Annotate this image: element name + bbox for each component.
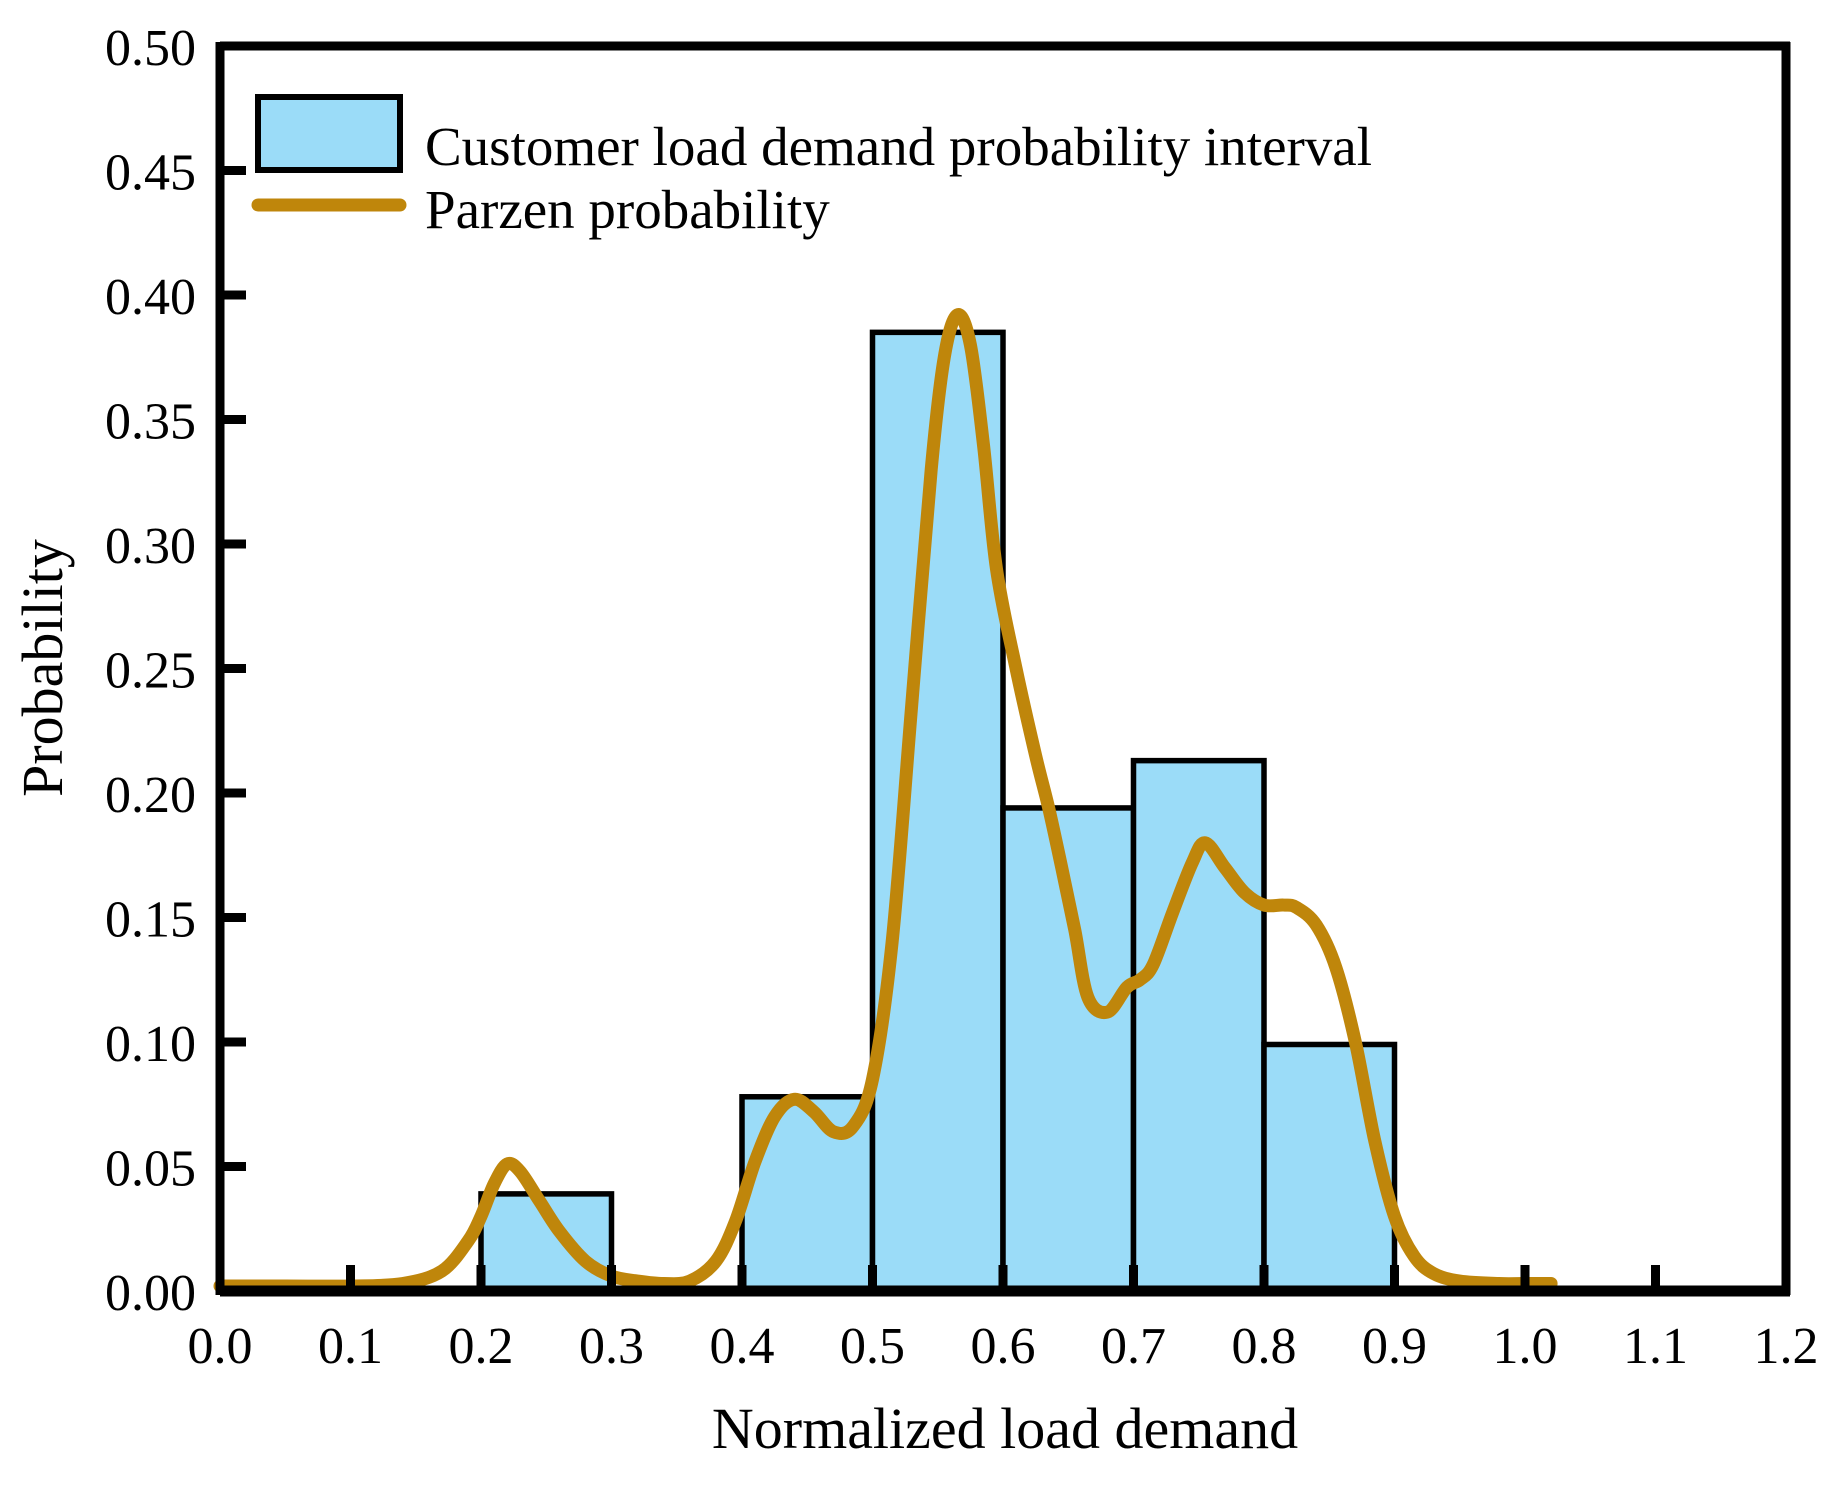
y-tick-label: 0.45: [105, 145, 196, 202]
x-tick-label: 0.2: [449, 1318, 514, 1375]
histogram-parzen-chart: 0.00.10.20.30.40.50.60.70.80.91.01.11.20…: [0, 0, 1845, 1493]
legend-swatch-bar: [258, 97, 400, 170]
y-tick-label: 0.15: [105, 892, 196, 949]
chart-figure: 0.00.10.20.30.40.50.60.70.80.91.01.11.20…: [0, 0, 1845, 1493]
y-tick-label: 0.00: [105, 1265, 196, 1322]
y-tick-label: 0.25: [105, 643, 196, 700]
x-tick-label: 1.2: [1754, 1318, 1819, 1375]
y-tick-label: 0.30: [105, 518, 196, 575]
x-tick-label: 1.0: [1493, 1318, 1558, 1375]
legend-label-bar: Customer load demand probability interva…: [425, 116, 1372, 177]
x-tick-label: 0.9: [1362, 1318, 1427, 1375]
x-tick-label: 0.0: [188, 1318, 253, 1375]
y-tick-label: 0.40: [105, 269, 196, 326]
x-tick-label: 0.4: [710, 1318, 775, 1375]
x-tick-label: 0.5: [840, 1318, 905, 1375]
x-tick-label: 1.1: [1623, 1318, 1688, 1375]
x-tick-label: 0.1: [318, 1318, 383, 1375]
x-tick-label: 0.8: [1232, 1318, 1297, 1375]
y-tick-label: 0.20: [105, 767, 196, 824]
x-axis-title: Normalized load demand: [712, 1396, 1298, 1461]
y-tick-label: 0.10: [105, 1016, 196, 1073]
legend-label-line: Parzen probability: [425, 179, 830, 240]
x-tick-label: 0.3: [579, 1318, 644, 1375]
x-tick-label: 0.6: [971, 1318, 1036, 1375]
y-axis-title: Probability: [10, 539, 75, 797]
y-tick-label: 0.50: [105, 20, 196, 77]
y-tick-label: 0.05: [105, 1141, 196, 1198]
y-tick-label: 0.35: [105, 394, 196, 451]
x-tick-label: 0.7: [1101, 1318, 1166, 1375]
